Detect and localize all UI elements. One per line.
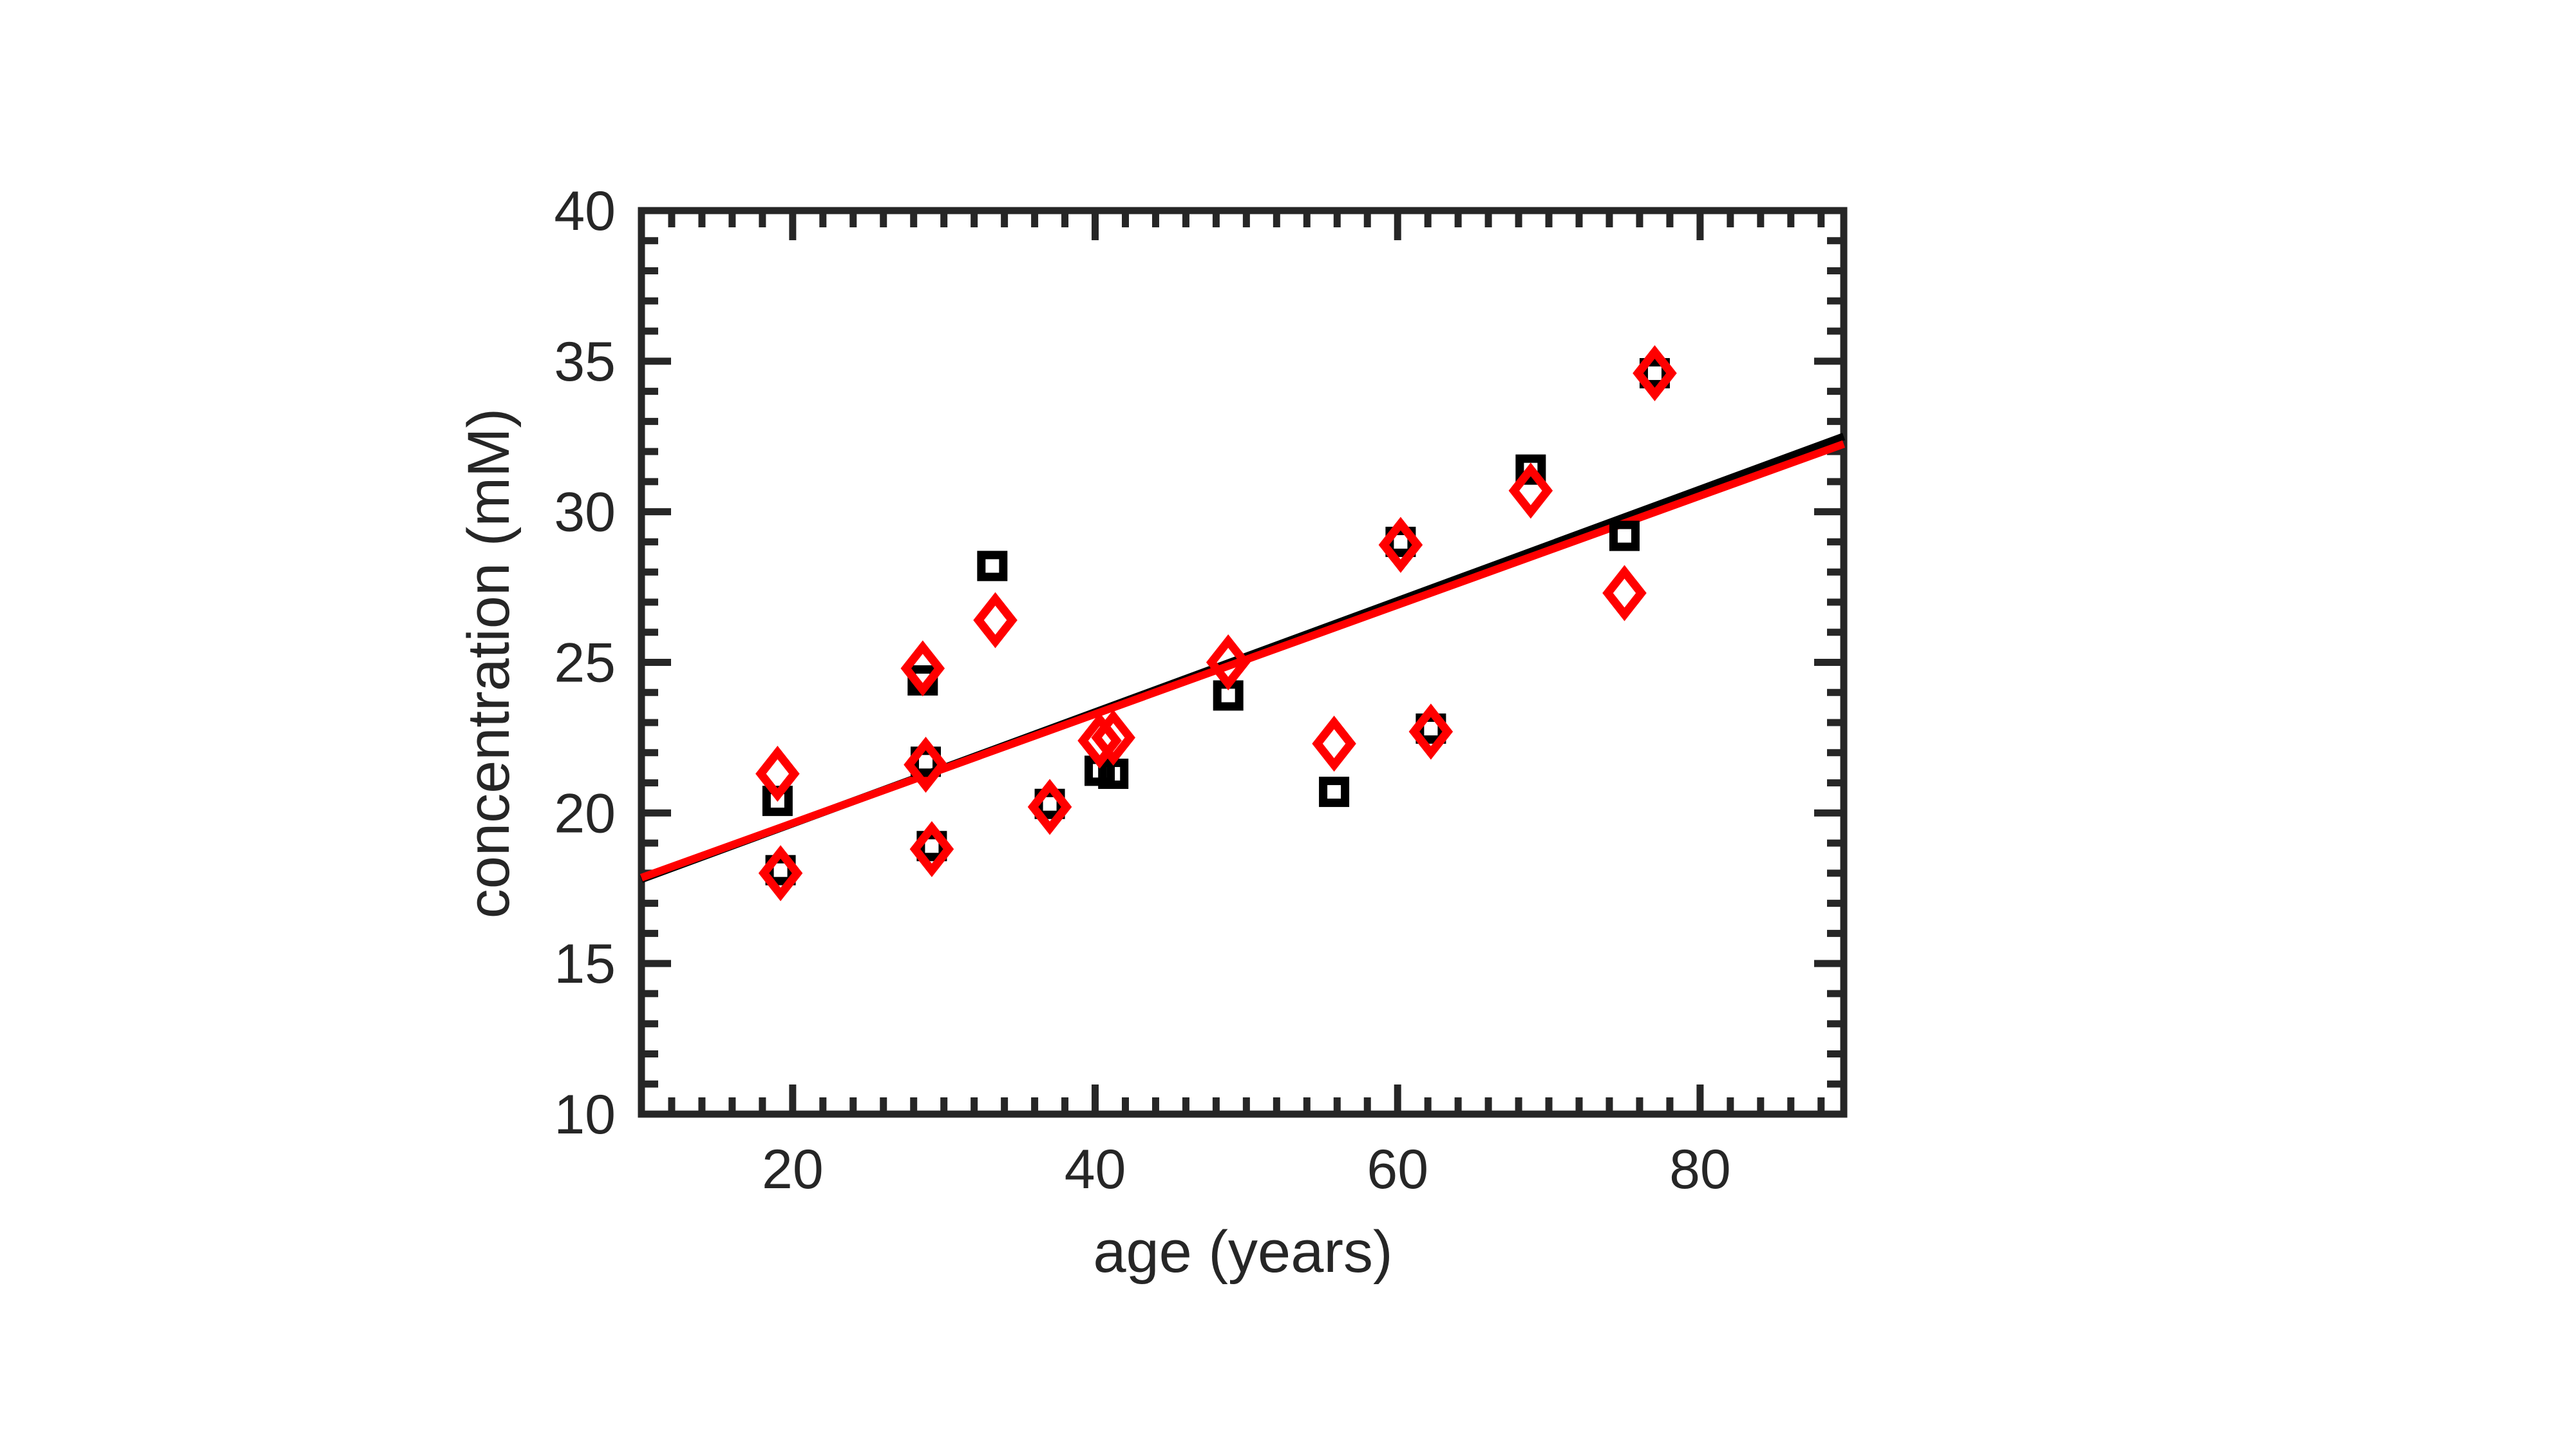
y-tick-label: 30 [554,482,616,544]
x-axis-title: age (years) [1093,1219,1392,1285]
y-tick-label: 20 [554,782,616,844]
y-tick-label: 35 [554,331,616,393]
y-tick-label: 15 [554,933,616,995]
x-tick-label: 20 [762,1139,824,1200]
y-tick-label: 25 [554,632,616,694]
x-tick-label: 80 [1669,1139,1731,1200]
chart-canvas: 20406080 10152025303540 age (years) conc… [0,0,2576,1449]
y-axis-title: concentration (mM) [456,408,522,918]
scatter-plot-figure: 20406080 10152025303540 age (years) conc… [0,0,2576,1449]
x-tick-label: 60 [1367,1139,1428,1200]
y-tick-label: 40 [554,180,616,242]
y-tick-label: 10 [554,1084,616,1146]
x-tick-label: 40 [1065,1139,1126,1200]
